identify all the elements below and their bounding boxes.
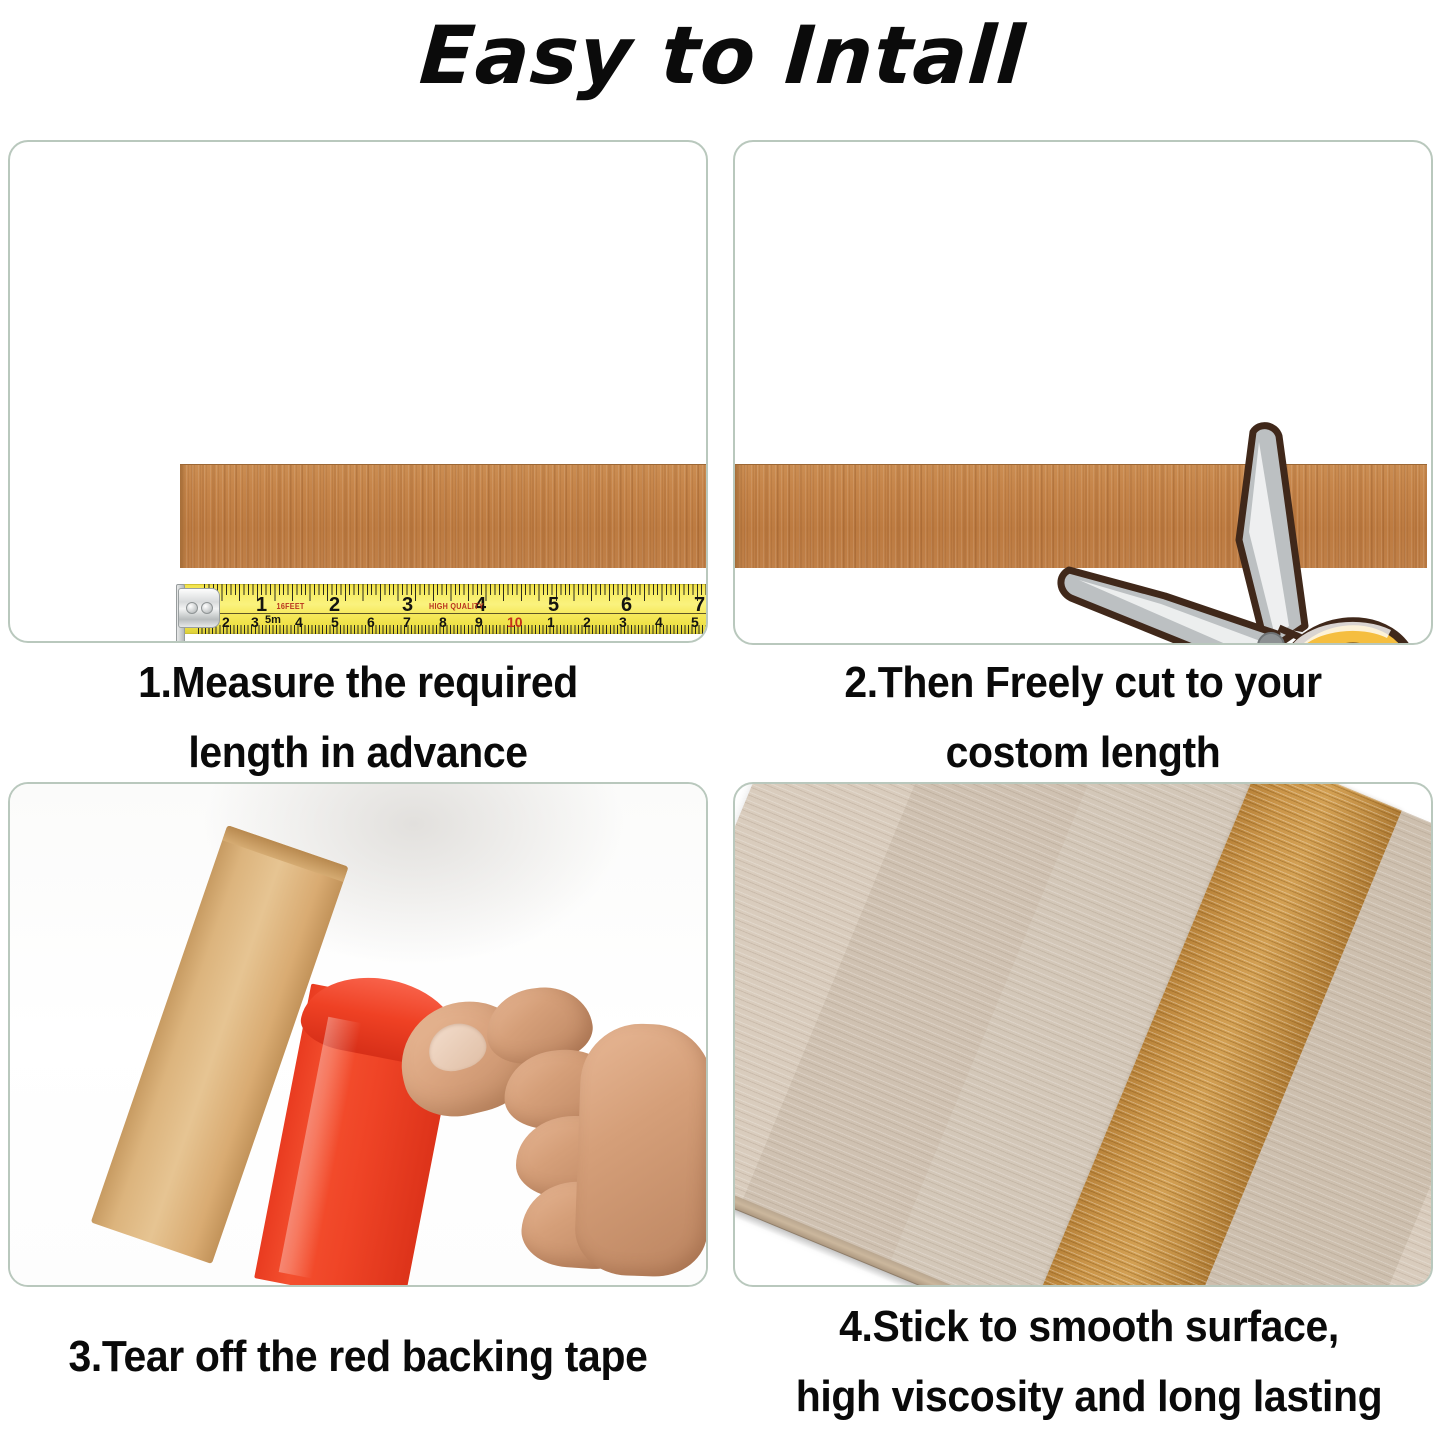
tape-imperial-mark: 2 xyxy=(329,595,340,615)
panel-cut xyxy=(733,140,1433,645)
tape-imperial-mark: 1 xyxy=(256,595,267,615)
tape-imperial-major-ticks xyxy=(204,584,708,601)
scissors-icon xyxy=(1053,420,1413,645)
caption-step-3: 3.Tear off the red backing tape xyxy=(25,1322,691,1392)
page-title: Easy to Intall xyxy=(0,4,1445,108)
floor-photo xyxy=(733,782,1433,1287)
tape-metric-mark: 1 xyxy=(547,615,555,629)
tape-metric-mark-highlight: 10 xyxy=(507,615,523,629)
caption-step-2: 2.Then Freely cut to your costom length xyxy=(758,648,1409,788)
tape-measure: 1 2 3 4 5 6 7 16FEET HIGH QUALITY 2 3 5m… xyxy=(178,584,708,634)
tape-quality-label: HIGH QUALITY xyxy=(429,602,484,611)
tape-metric-mark: 5 xyxy=(691,615,699,629)
tape-metric-fine-ticks xyxy=(198,625,708,634)
caption-line: high viscosity and long lasting xyxy=(758,1362,1420,1431)
caption-line: costom length xyxy=(758,718,1409,788)
panel-peel-tape xyxy=(8,782,708,1287)
wood-strip-end-shade xyxy=(733,464,743,568)
wood-trim-strip xyxy=(180,464,708,568)
tape-metric-mark: 8 xyxy=(439,615,447,629)
tape-metric-mark: 4 xyxy=(655,615,663,629)
palm xyxy=(574,1022,708,1278)
caption-line: length in advance xyxy=(33,718,684,788)
tape-metric-mark: 6 xyxy=(367,615,375,629)
floor-plane xyxy=(733,782,1433,1287)
tape-imperial-mark: 6 xyxy=(621,595,632,615)
tape-brand-label: 16FEET xyxy=(277,602,305,611)
caption-step-4: 4.Stick to smooth surface, high viscosit… xyxy=(758,1292,1420,1431)
caption-line: 2.Then Freely cut to your xyxy=(758,648,1409,718)
tape-imperial-mark: 5 xyxy=(548,595,559,615)
infographic-page: Easy to Intall 1 2 3 4 5 6 7 16FEET HIGH… xyxy=(0,0,1445,1431)
tape-metric-mark: 5 xyxy=(331,615,339,629)
panel-stick xyxy=(733,782,1433,1287)
caption-step-1: 1.Measure the required length in advance xyxy=(33,648,684,788)
tape-metric-mark: 3 xyxy=(619,615,627,629)
tape-metric-mark: 3 xyxy=(251,615,259,629)
hand-peeling xyxy=(382,984,708,1287)
tape-metric-mark: 2 xyxy=(222,615,230,629)
tape-metric-mark: 4 xyxy=(295,615,303,629)
caption-line: 4.Stick to smooth surface, xyxy=(758,1292,1420,1362)
caption-line: 3.Tear off the red backing tape xyxy=(25,1322,691,1392)
tape-end-hook xyxy=(178,588,220,628)
tape-imperial-mark: 3 xyxy=(402,595,413,615)
tape-metric-mark: 2 xyxy=(583,615,591,629)
tape-imperial-mark: 7 xyxy=(694,595,705,615)
tape-metric-mark: 9 xyxy=(475,615,483,629)
tape-metric-scale-label: 5m xyxy=(265,615,281,626)
caption-line: 1.Measure the required xyxy=(33,648,684,718)
tape-metric-mark: 7 xyxy=(403,615,411,629)
panel-measure: 1 2 3 4 5 6 7 16FEET HIGH QUALITY 2 3 5m… xyxy=(8,140,708,643)
